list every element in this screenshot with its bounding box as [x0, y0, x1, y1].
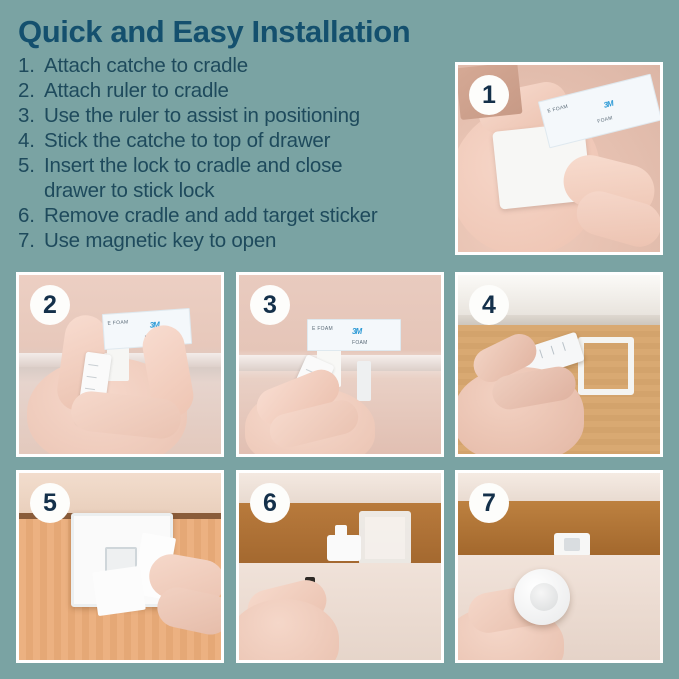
- cradle-leg: [357, 361, 371, 401]
- magnetic-key-center: [530, 583, 558, 611]
- step-photo-1: E FOAM 3M FOAM 1: [455, 62, 663, 255]
- catch-bracket: [578, 337, 634, 395]
- step-badge-3: 3: [250, 285, 290, 325]
- lock-body: [327, 535, 361, 561]
- step-number: 4.: [18, 128, 44, 153]
- foam-tape-strip: E FOAM 3M FOAM: [307, 319, 401, 351]
- step-item-2: 2.Attach ruler to cradle: [18, 78, 450, 103]
- step-badge-6: 6: [250, 483, 290, 523]
- lock-latch: [554, 533, 590, 557]
- step-item-3: 3.Use the ruler to assist in positioning: [18, 103, 450, 128]
- step-text: Attach catche to cradle: [44, 54, 248, 77]
- step-number: 6.: [18, 203, 44, 228]
- step-photo-5: 5: [16, 470, 224, 663]
- step-photo-3: E FOAM 3M FOAM 3: [236, 272, 444, 457]
- adhesive-liner: [92, 566, 146, 616]
- step-photo-6: 6: [236, 470, 444, 663]
- step-number: 1.: [18, 53, 44, 78]
- step-text: Insert the lock to cradle and close draw…: [44, 154, 342, 202]
- step-item-7: 7.Use magnetic key to open: [18, 228, 450, 253]
- step-badge-7: 7: [469, 483, 509, 523]
- step-item-4: 4.Stick the catche to top of drawer: [18, 128, 450, 153]
- step-photo-2: E FOAM 3M FOAM 2: [16, 272, 224, 457]
- step-badge-1: 1: [469, 75, 509, 115]
- step-badge-2: 2: [30, 285, 70, 325]
- step-text: Use the ruler to assist in positioning: [44, 104, 360, 127]
- step-badge-4: 4: [469, 285, 509, 325]
- instructions-block: Quick and Easy Installation 1.Attach cat…: [18, 16, 450, 256]
- tape-label-left: E FOAM: [107, 319, 128, 326]
- step-number: 5.: [18, 153, 44, 178]
- step-item-1: 1.Attach catche to cradle: [18, 53, 450, 78]
- tape-label-left: E FOAM: [547, 104, 569, 115]
- step-photo-4: 4: [455, 272, 663, 457]
- step-photo-7: 7: [455, 470, 663, 663]
- tape-label-right: FOAM: [597, 115, 614, 125]
- tape-label-right: FOAM: [352, 340, 368, 346]
- step-item-6: 6.Remove cradle and add target sticker: [18, 203, 450, 228]
- catch-bracket: [359, 511, 411, 565]
- step-text: Use magnetic key to open: [44, 229, 276, 252]
- page-title: Quick and Easy Installation: [18, 16, 450, 49]
- step-number: 3.: [18, 103, 44, 128]
- step-item-5: 5.Insert the lock to cradle and close dr…: [18, 153, 450, 203]
- brand-logo-3m: 3M: [352, 327, 361, 336]
- step-text: Remove cradle and add target sticker: [44, 204, 378, 227]
- step-text: Attach ruler to cradle: [44, 79, 229, 102]
- step-text: Stick the catche to top of drawer: [44, 129, 330, 152]
- step-badge-5: 5: [30, 483, 70, 523]
- step-number: 2.: [18, 78, 44, 103]
- steps-list: 1.Attach catche to cradle 2.Attach ruler…: [18, 53, 450, 253]
- tape-label-left: E FOAM: [312, 326, 333, 332]
- infographic-root: Quick and Easy Installation 1.Attach cat…: [0, 0, 679, 679]
- step-number: 7.: [18, 228, 44, 253]
- brand-logo-3m: 3M: [603, 99, 614, 110]
